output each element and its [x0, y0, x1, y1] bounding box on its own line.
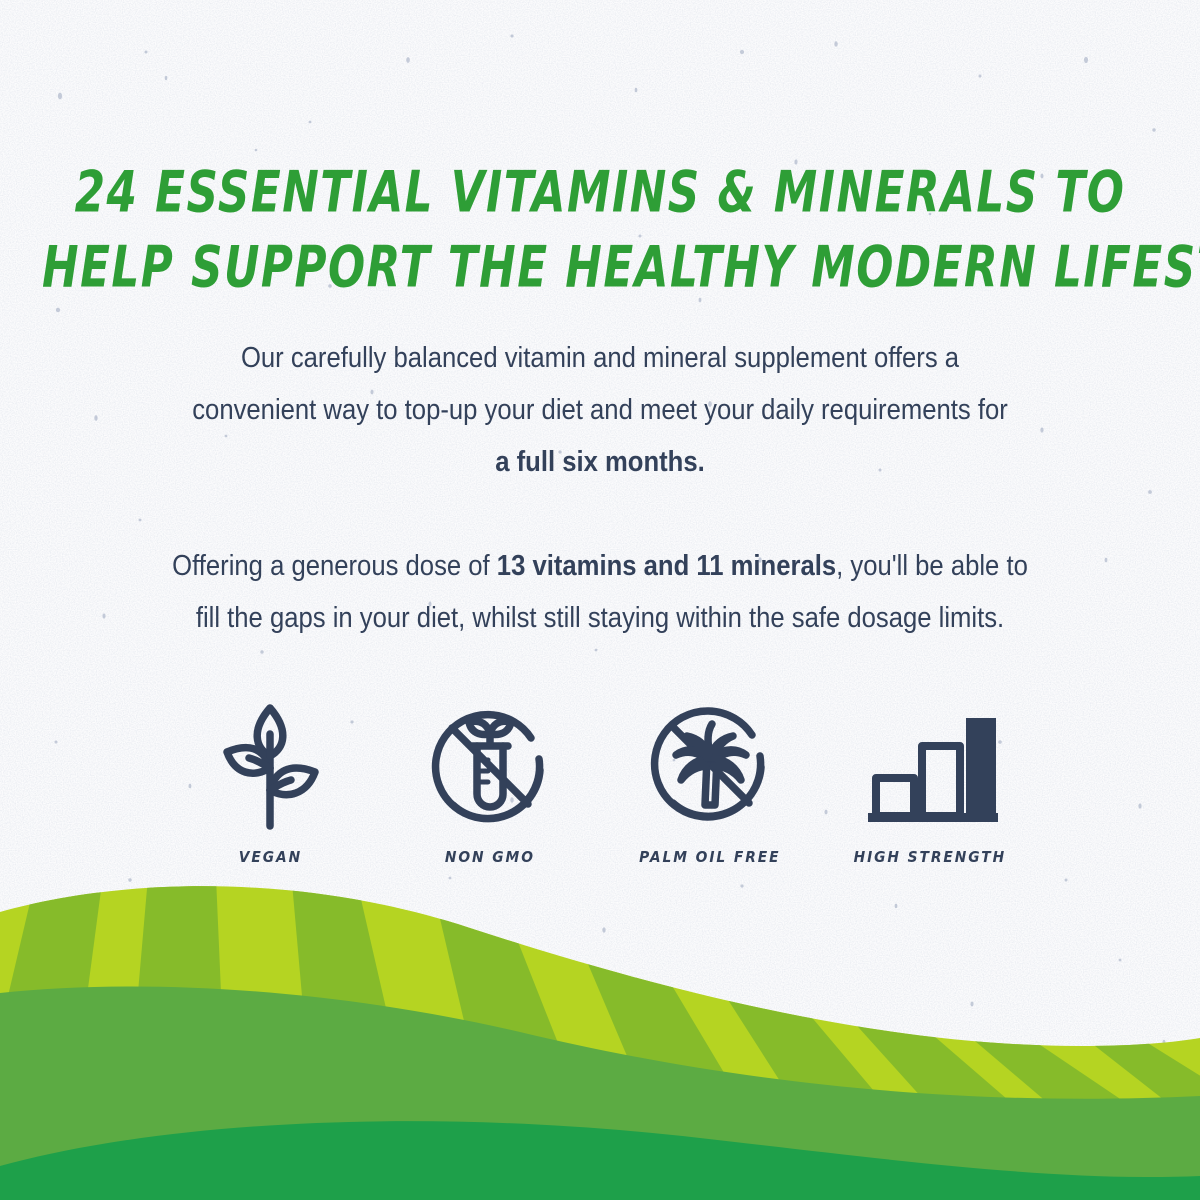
badge-vegan-art: [217, 700, 323, 830]
no-palm-tree-icon: [645, 700, 775, 830]
badge-high-strength-label: High Strength: [854, 848, 1006, 866]
intro-line-2: convenient way to top-up your diet and m…: [60, 384, 1140, 436]
badge-vegan-label: Vegan: [238, 848, 301, 866]
nutrient-count-emphasis: 13 vitamins and 11 minerals: [497, 550, 836, 582]
badge-vegan: Vegan: [170, 700, 370, 866]
trust-badge-row: Vegan: [170, 700, 1030, 866]
duration-emphasis: a full six months.: [495, 446, 705, 478]
rolling-hills-illustration: [0, 870, 1200, 1200]
intro-line-1: Our carefully balanced vitamin and miner…: [60, 332, 1140, 384]
dosage-line-1-post: , you'll be able to: [836, 550, 1028, 582]
dosage-paragraph: Offering a generous dose of 13 vitamins …: [0, 540, 1200, 644]
no-test-tube-icon: [427, 704, 553, 830]
dosage-line-1-pre: Offering a generous dose of: [172, 550, 497, 582]
badge-non-gmo-art: [427, 700, 553, 830]
badge-non-gmo: Non GMO: [390, 700, 590, 866]
intro-paragraph: Our carefully balanced vitamin and miner…: [0, 332, 1200, 488]
badge-high-strength-art: [860, 700, 1000, 830]
dosage-line-1: Offering a generous dose of 13 vitamins …: [60, 540, 1140, 592]
badge-non-gmo-label: Non GMO: [445, 848, 535, 866]
plant-sprig-icon: [217, 702, 323, 830]
page-title: 24 Essential Vitamins & Minerals to Help…: [0, 155, 1200, 305]
badge-high-strength: High Strength: [830, 700, 1030, 866]
dosage-line-2: fill the gaps in your diet, whilst still…: [60, 592, 1140, 644]
ascending-bars-icon: [860, 712, 1000, 830]
badge-palm-oil-free-art: [645, 700, 775, 830]
badge-palm-oil-free: Palm Oil Free: [610, 700, 810, 866]
badge-palm-oil-free-label: Palm Oil Free: [639, 848, 780, 866]
poster-canvas: 24 Essential Vitamins & Minerals to Help…: [0, 0, 1200, 1200]
intro-line-3-emphasis: a full six months.: [60, 436, 1140, 488]
headline-line-2: Help Support the Healthy Modern Lifestyl…: [42, 222, 1158, 314]
